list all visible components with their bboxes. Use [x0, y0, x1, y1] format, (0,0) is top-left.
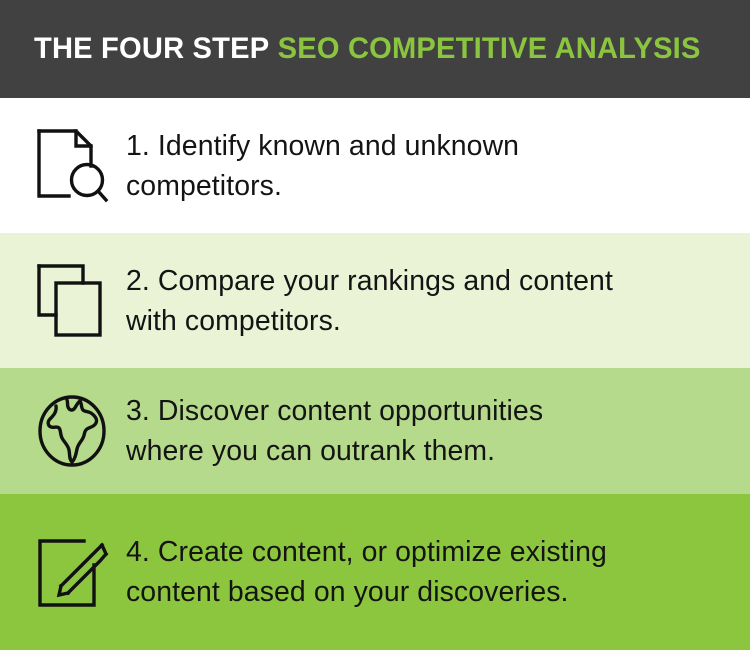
- step-2-line-2: with competitors.: [126, 301, 613, 341]
- step-4-line-1: 4. Create content, or optimize existing: [126, 532, 607, 572]
- header-title: THE FOUR STEP SEO COMPETITIVE ANALYSIS: [34, 34, 701, 64]
- step-row-4: 4. Create content, or optimize existing …: [0, 494, 750, 650]
- step-row-2: 2. Compare your rankings and content wit…: [0, 233, 750, 368]
- step-row-3: 3. Discover content opportunities where …: [0, 368, 750, 494]
- step-2-line-1: 2. Compare your rankings and content: [126, 261, 613, 301]
- seo-competitive-analysis-infographic: THE FOUR STEP SEO COMPETITIVE ANALYSIS 1…: [0, 0, 750, 650]
- step-3-line-1: 3. Discover content opportunities: [126, 391, 543, 431]
- header-title-accent: SEO COMPETITIVE ANALYSIS: [278, 32, 701, 65]
- step-4-line-2: content based on your discoveries.: [126, 572, 607, 612]
- step-1-line-1: 1. Identify known and unknown: [126, 126, 519, 166]
- step-text-3: 3. Discover content opportunities where …: [126, 391, 543, 471]
- step-text-1: 1. Identify known and unknown competitor…: [126, 126, 519, 206]
- globe-icon: [30, 393, 126, 469]
- step-text-4: 4. Create content, or optimize existing …: [126, 532, 607, 612]
- step-3-line-2: where you can outrank them.: [126, 431, 543, 471]
- step-1-line-2: competitors.: [126, 166, 519, 206]
- header-title-plain: THE FOUR STEP: [34, 32, 269, 65]
- step-row-1: 1. Identify known and unknown competitor…: [0, 98, 750, 233]
- edit-pencil-icon: [30, 533, 126, 611]
- document-search-icon: [30, 128, 126, 204]
- step-text-2: 2. Compare your rankings and content wit…: [126, 261, 613, 341]
- copy-documents-icon: [30, 263, 126, 339]
- infographic-header: THE FOUR STEP SEO COMPETITIVE ANALYSIS: [0, 0, 750, 98]
